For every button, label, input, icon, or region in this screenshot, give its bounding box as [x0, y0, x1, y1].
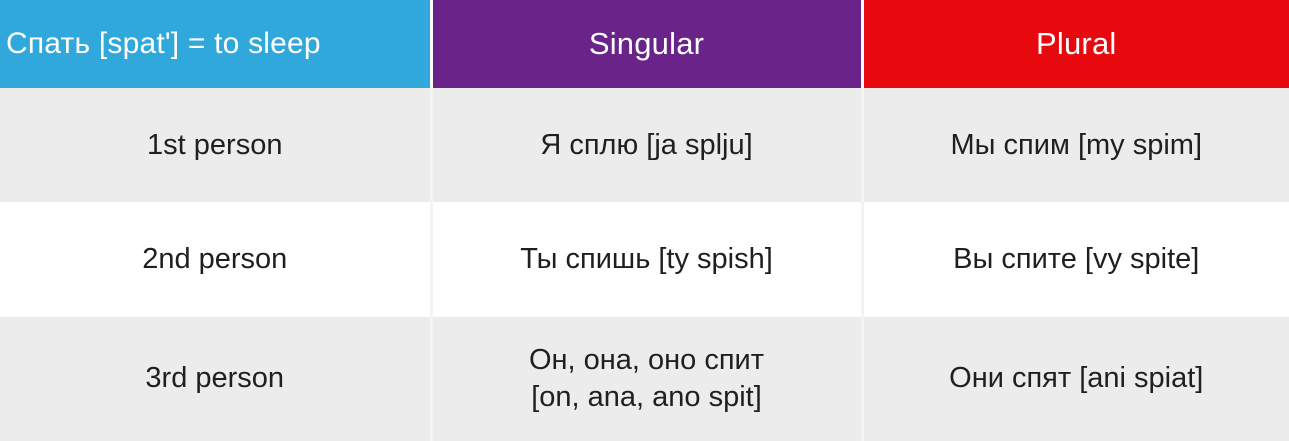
- cell-person: 2nd person: [0, 202, 431, 316]
- table-row: 3rd person Он, она, оно спит [on, ana, a…: [0, 317, 1289, 441]
- cell-singular-line1: Ты спишь [ty spish]: [443, 241, 851, 278]
- table-body: 1st person Я сплю [ja splju] Мы спим [my…: [0, 88, 1289, 441]
- cell-singular: Он, она, оно спит [on, ana, ano spit]: [431, 317, 862, 441]
- cell-plural: Мы спим [my spim]: [862, 88, 1289, 202]
- cell-plural-line1: Они спят [ani spiat]: [874, 360, 1280, 397]
- cell-singular-line1: Он, она, оно спит: [443, 342, 851, 379]
- table-row: 2nd person Ты спишь [ty spish] Вы спите …: [0, 202, 1289, 316]
- table-row: 1st person Я сплю [ja splju] Мы спим [my…: [0, 88, 1289, 202]
- cell-singular: Ты спишь [ty spish]: [431, 202, 862, 316]
- cell-person: 1st person: [0, 88, 431, 202]
- cell-singular: Я сплю [ja splju]: [431, 88, 862, 202]
- cell-singular-line1: Я сплю [ja splju]: [443, 127, 851, 164]
- cell-plural-line1: Мы спим [my spim]: [874, 127, 1280, 164]
- header-cell-subject: Спать [spat'] = to sleep: [0, 0, 431, 88]
- conjugation-table: Спать [spat'] = to sleep Singular Plural…: [0, 0, 1289, 441]
- cell-plural: Вы спите [vy spite]: [862, 202, 1289, 316]
- header-cell-singular: Singular: [431, 0, 862, 88]
- cell-singular-line2: [on, ana, ano spit]: [443, 379, 851, 416]
- cell-plural: Они спят [ani spiat]: [862, 317, 1289, 441]
- header-cell-plural: Plural: [862, 0, 1289, 88]
- table-header: Спать [spat'] = to sleep Singular Plural: [0, 0, 1289, 88]
- cell-person: 3rd person: [0, 317, 431, 441]
- header-row: Спать [spat'] = to sleep Singular Plural: [0, 0, 1289, 88]
- cell-plural-line1: Вы спите [vy spite]: [874, 241, 1280, 278]
